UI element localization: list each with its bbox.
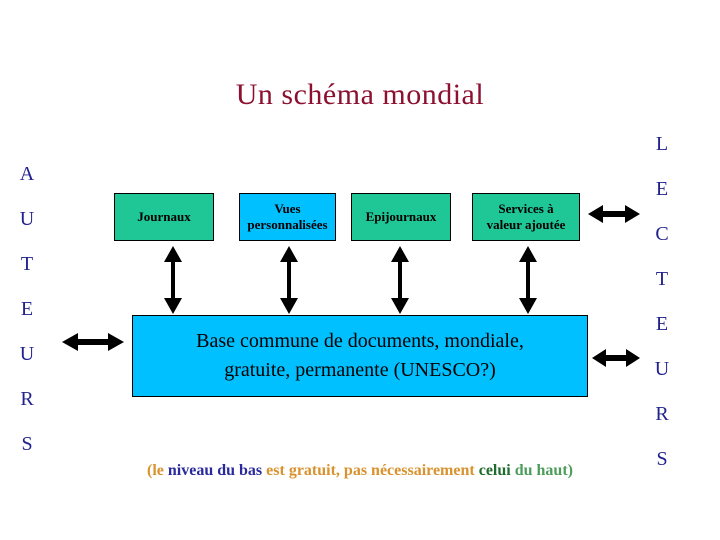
box-base-line1: Base commune de documents, mondiale, — [196, 330, 524, 352]
vertical-letter: L — [645, 122, 679, 167]
arrow-vertical-double-icon — [517, 246, 539, 314]
caption-segment: est gratuit, pas nécessairement — [266, 462, 479, 479]
vertical-letter: U — [645, 347, 679, 392]
box-services-label: Services àvaleur ajoutée — [473, 201, 579, 233]
vertical-letter: R — [10, 377, 44, 422]
page-title: Un schéma mondial — [0, 78, 720, 112]
caption-segment: celui — [479, 462, 515, 479]
vertical-label-lecteurs: L E C T E U R S — [645, 122, 679, 482]
vertical-label-auteurs: A U T E U R S — [10, 152, 44, 467]
box-base-commune: Base commune de documents, mondiale,grat… — [132, 315, 588, 397]
box-epijournaux: Epijournaux — [351, 193, 451, 241]
vertical-letter: T — [645, 257, 679, 302]
box-journaux-label: Journaux — [115, 209, 213, 225]
box-epijournaux-label: Epijournaux — [352, 209, 450, 225]
vertical-letter: S — [10, 422, 44, 467]
box-base-line2: gratuite, permanente (UNESCO?) — [224, 359, 496, 381]
arrow-vertical-double-icon — [389, 246, 411, 314]
box-services-valeur-ajoutee: Services àvaleur ajoutée — [472, 193, 580, 241]
vertical-letter: U — [10, 332, 44, 377]
vertical-letter: A — [10, 152, 44, 197]
arrow-horizontal-double-icon — [588, 203, 640, 225]
caption-segment: du haut) — [515, 462, 573, 479]
arrow-vertical-double-icon — [278, 246, 300, 314]
vertical-letter: E — [645, 302, 679, 347]
vertical-letter: C — [645, 212, 679, 257]
box-base-label: Base commune de documents, mondiale,grat… — [133, 327, 587, 385]
vertical-letter: R — [645, 392, 679, 437]
arrow-horizontal-double-icon — [592, 347, 640, 369]
vertical-letter: U — [10, 197, 44, 242]
caption-text: (le niveau du bas est gratuit, pas néces… — [0, 462, 720, 480]
slide-canvas: Un schéma mondial A U T E U R S L E C T … — [0, 0, 720, 540]
box-vues-line2: personnalisées — [247, 217, 327, 232]
caption-segment: niveau du bas — [168, 462, 266, 479]
box-services-line1: Services à — [498, 201, 553, 216]
arrow-horizontal-double-icon — [62, 331, 124, 353]
vertical-letter: E — [10, 287, 44, 332]
vertical-letter: T — [10, 242, 44, 287]
box-services-line2: valeur ajoutée — [487, 217, 566, 232]
box-vues-personnalisees: Vuespersonnalisées — [239, 193, 336, 241]
caption-segment: (le — [147, 462, 168, 479]
vertical-letter: E — [645, 167, 679, 212]
box-vues-label: Vuespersonnalisées — [240, 201, 335, 233]
box-vues-line1: Vues — [274, 201, 300, 216]
box-journaux: Journaux — [114, 193, 214, 241]
arrow-vertical-double-icon — [162, 246, 184, 314]
